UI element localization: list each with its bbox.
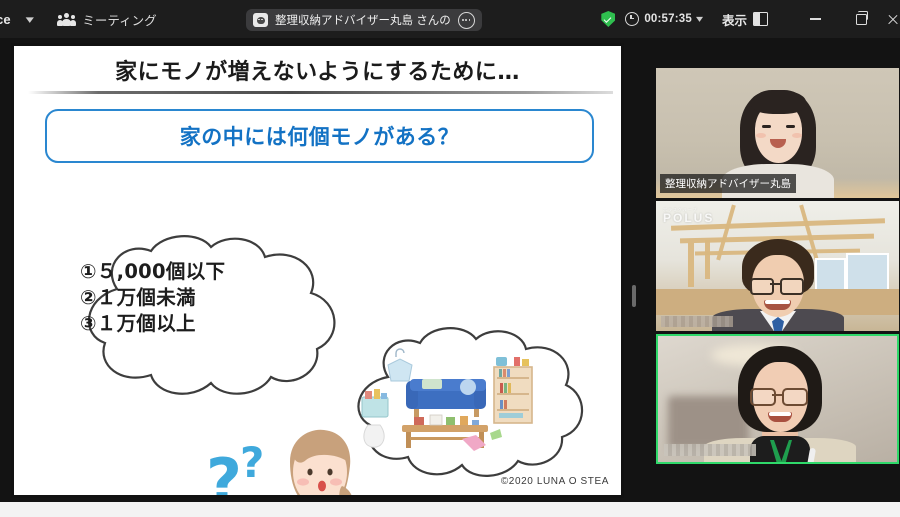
meeting-stage: 家にモノが増えないようにするために… 家の中には何個モノがある？ ①５,000個… bbox=[0, 38, 900, 502]
participant-tile-1[interactable]: 整理収納アドバイザー丸島 bbox=[656, 68, 899, 198]
participant-video-3 bbox=[658, 336, 897, 462]
blurred-overlay-2 bbox=[661, 316, 733, 327]
titlebar-left-group: ce ▾ ミーティング bbox=[0, 10, 157, 29]
titlebar: ce ▾ ミーティング 整理収納アドバイザー丸島 さんの bbox=[0, 0, 900, 38]
restore-icon bbox=[856, 14, 867, 25]
people-icon bbox=[58, 13, 75, 26]
participant-tile-2[interactable]: ポラスグループ POLUS bbox=[656, 201, 899, 331]
chevron-down-icon[interactable]: ▾ bbox=[25, 13, 33, 26]
bookshelf-icon bbox=[494, 357, 532, 423]
svg-text:?: ? bbox=[206, 445, 242, 495]
toybox-icon bbox=[362, 389, 388, 417]
slide-question-box: 家の中には何個モノがある？ bbox=[45, 109, 594, 163]
view-layout-button[interactable]: 表示 bbox=[722, 10, 768, 29]
thinking-girl-illustration bbox=[272, 424, 367, 495]
presentation-slide: 家にモノが増えないようにするために… 家の中には何個モノがある？ ①５,000個… bbox=[14, 46, 621, 495]
meeting-window: ce ▾ ミーティング 整理収納アドバイザー丸島 さんの bbox=[0, 0, 900, 502]
desktop-background-strip bbox=[0, 502, 900, 517]
layout-icon bbox=[753, 12, 768, 26]
app-root: ce ▾ ミーティング 整理収納アドバイザー丸島 さんの bbox=[0, 0, 900, 517]
view-layout-label: 表示 bbox=[722, 10, 747, 29]
panel-resize-handle[interactable] bbox=[632, 285, 636, 307]
titlebar-right-group: 00:57:35 ▾ 表示 bbox=[601, 0, 900, 38]
thought-cloud-room bbox=[344, 321, 594, 491]
chevron-down-icon[interactable]: ▾ bbox=[696, 14, 703, 25]
clock-icon bbox=[625, 12, 639, 26]
svg-text:?: ? bbox=[240, 438, 264, 487]
meeting-tab-label: ミーティング bbox=[82, 10, 156, 29]
polus-watermark-text: POLUS bbox=[663, 211, 714, 225]
meeting-timer-value: 00:57:35 bbox=[644, 13, 692, 25]
screenshare-presenter-label: 整理収納アドバイザー丸島 さんの bbox=[275, 12, 451, 28]
encryption-shield-icon[interactable] bbox=[601, 11, 615, 27]
answer-item-1: ①５,000個以下 bbox=[80, 259, 360, 285]
maximize-button[interactable] bbox=[838, 0, 884, 38]
answer-item-3: ③１万個以上 bbox=[80, 311, 360, 337]
participant-tile-3-active[interactable] bbox=[656, 334, 899, 464]
title-divider bbox=[28, 91, 613, 94]
slide-question-text: 家の中には何個モノがある？ bbox=[180, 121, 460, 151]
close-icon bbox=[887, 14, 898, 25]
answer-item-2: ②１万個未満 bbox=[80, 285, 360, 311]
shared-screen-region[interactable]: 家にモノが増えないようにするために… 家の中には何個モノがある？ ①５,000個… bbox=[11, 43, 624, 498]
participant-video-strip: 整理収納アドバイザー丸島 bbox=[656, 68, 900, 473]
meeting-timer[interactable]: 00:57:35 ▾ bbox=[625, 12, 702, 26]
polus-watermark: ポラスグループ POLUS bbox=[663, 208, 714, 224]
slide-copyright: ©2020 LUNA O STEA bbox=[501, 476, 609, 487]
slide-answer-list: ①５,000個以下 ②１万個未満 ③１万個以上 bbox=[80, 259, 360, 337]
screen-share-icon bbox=[253, 13, 268, 27]
minimize-button[interactable] bbox=[792, 0, 838, 38]
screenshare-badge[interactable]: 整理収納アドバイザー丸島 さんの bbox=[246, 9, 482, 31]
blurred-overlay-3 bbox=[664, 444, 756, 456]
minimize-icon bbox=[810, 18, 821, 19]
meeting-tab[interactable]: ミーティング bbox=[58, 10, 156, 29]
close-button[interactable] bbox=[884, 0, 900, 38]
workspace-label[interactable]: ce bbox=[0, 12, 11, 27]
more-options-icon[interactable] bbox=[458, 12, 475, 29]
slide-title: 家にモノが増えないようにするために… bbox=[14, 54, 621, 86]
participant-name-label-1: 整理収納アドバイザー丸島 bbox=[660, 174, 796, 193]
